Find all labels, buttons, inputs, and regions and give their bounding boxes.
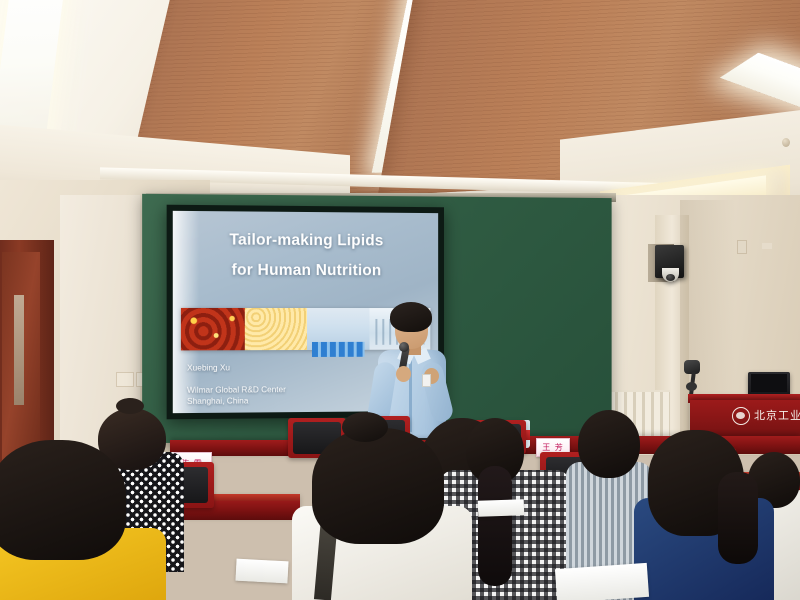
slide-title-line-2: for Human Nutrition bbox=[173, 256, 438, 287]
paper-handout[interactable] bbox=[555, 563, 649, 600]
presenter-badge bbox=[422, 374, 431, 387]
palm-fruit-image bbox=[181, 308, 244, 350]
door-glass-panel bbox=[14, 295, 24, 405]
slide-title: Tailor-making Lipids for Human Nutrition bbox=[173, 225, 438, 287]
slide-title-line-1: Tailor-making Lipids bbox=[173, 225, 438, 257]
audience-person-ponytail bbox=[718, 472, 758, 564]
lecture-hall-photo: Tailor-making Lipids for Human Nutrition… bbox=[0, 0, 800, 600]
presenter-left-hand bbox=[396, 366, 411, 382]
audience-person-ponytail bbox=[478, 466, 512, 586]
microphone-head-icon bbox=[399, 342, 409, 352]
university-seal-logo-icon bbox=[732, 407, 750, 425]
audience-person-hair-bun bbox=[116, 398, 144, 414]
fire-sprinkler-icon bbox=[782, 138, 790, 147]
soybean-image bbox=[244, 308, 307, 350]
wall-outlet-plate-secondary bbox=[762, 243, 772, 249]
laptop-screen bbox=[751, 374, 787, 392]
podium-banner-text: 北京工业 bbox=[754, 407, 800, 423]
paper-handout[interactable] bbox=[235, 559, 288, 584]
open-notebook[interactable] bbox=[478, 499, 525, 517]
audience-person-hair bbox=[312, 428, 444, 544]
audience-person-hair bbox=[0, 440, 126, 560]
slide-author: Xuebing Xu bbox=[187, 362, 230, 373]
audience-person-hair-bun bbox=[342, 412, 388, 442]
slide-affiliation: Wilmar Global R&D Center Shanghai, China bbox=[187, 384, 286, 407]
wall-outlet-plate bbox=[737, 240, 747, 254]
slide-affiliation-line-1: Wilmar Global R&D Center bbox=[187, 384, 286, 396]
slide-affiliation-line-2: Shanghai, China bbox=[187, 395, 286, 407]
light-switch[interactable] bbox=[116, 372, 134, 387]
presenter-hair bbox=[390, 302, 432, 332]
tripod-knob[interactable] bbox=[686, 382, 697, 391]
audience-person-hair bbox=[578, 410, 640, 478]
camera-lens-icon bbox=[666, 274, 675, 281]
processing-equipment-image bbox=[307, 308, 369, 350]
